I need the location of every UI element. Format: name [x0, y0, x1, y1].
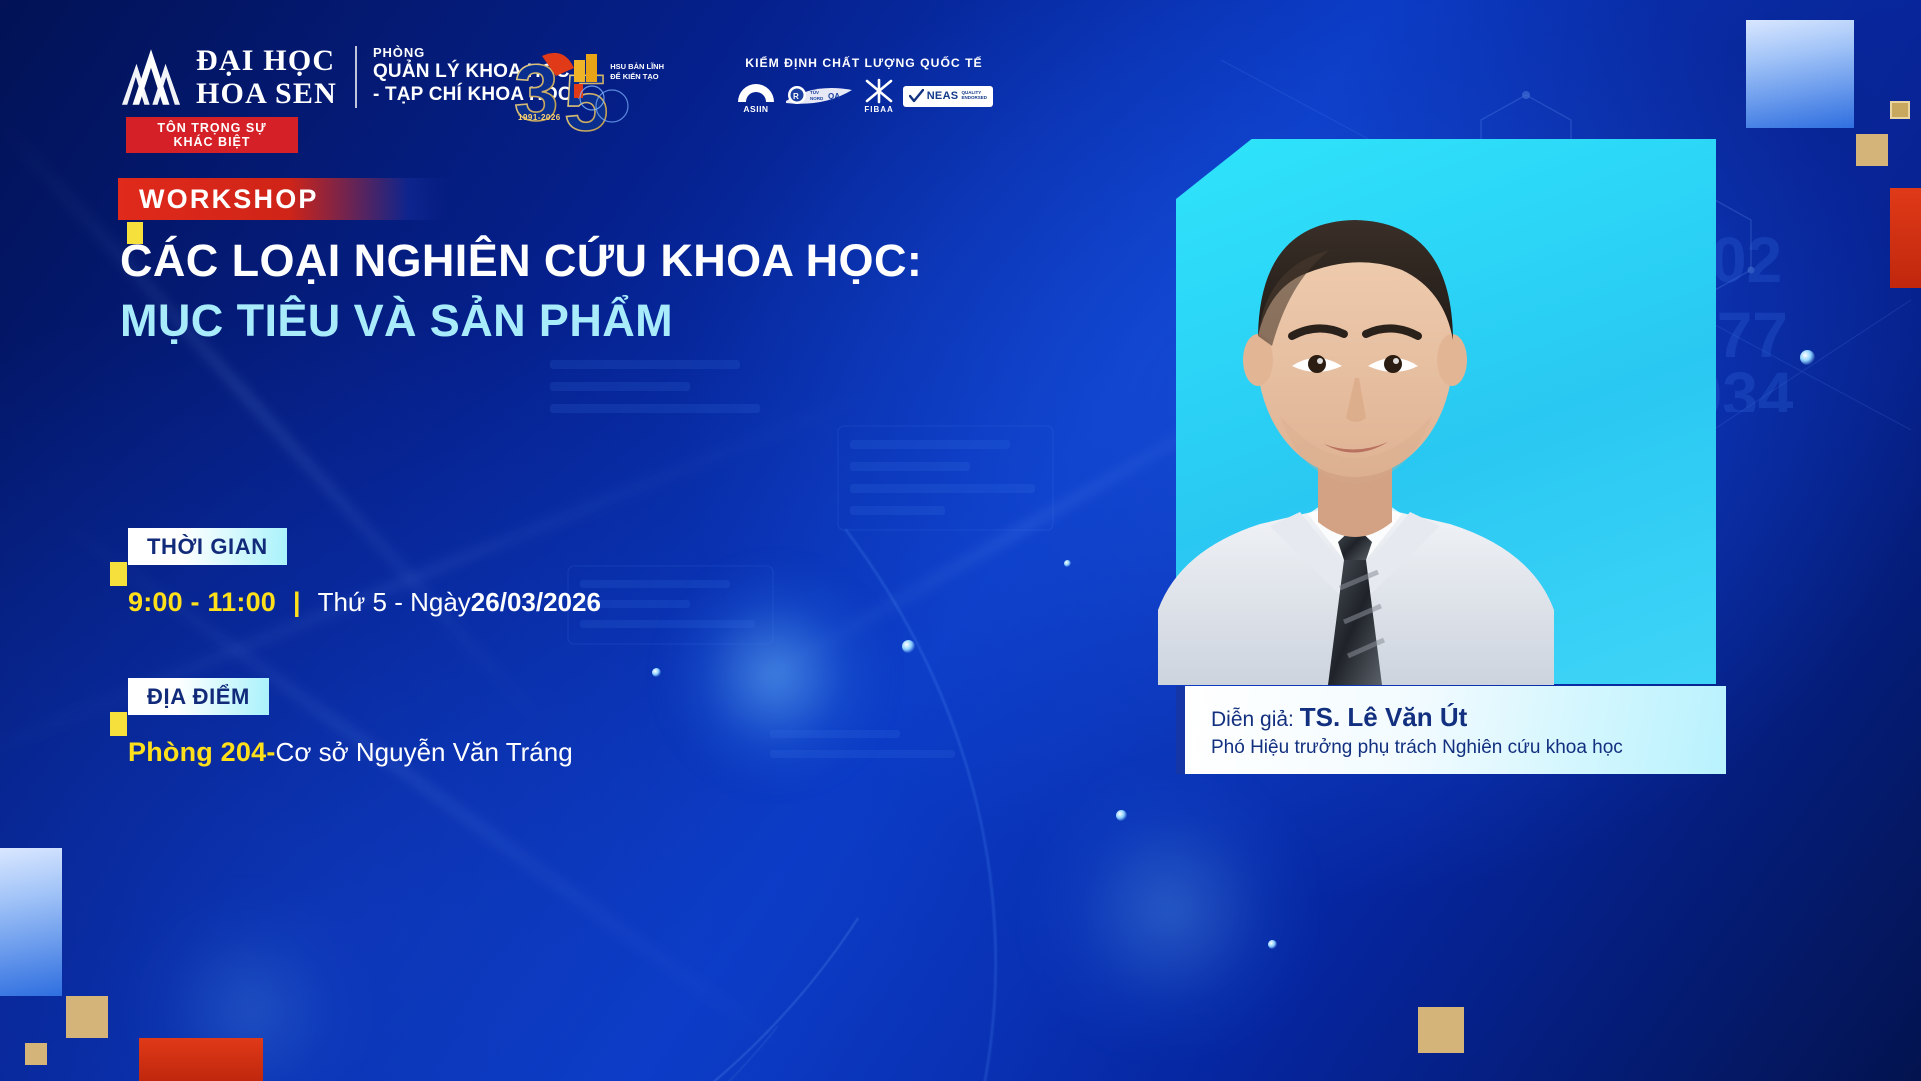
- data-blocks-graphic: [520, 330, 1240, 870]
- location-block: ĐỊA ĐIỂM Phòng 204 - Cơ sở Nguyễn Văn Tr…: [128, 678, 573, 768]
- tuv-qa-icon: R TÜV NORD QA: [784, 81, 856, 111]
- location-room: Phòng 204: [128, 737, 266, 768]
- svg-text:QA: QA: [828, 92, 840, 101]
- brand-lockup: ĐẠI HỌC HOA SEN TÔN TRỌNG SỰ KHÁC BIỆT P…: [118, 44, 572, 153]
- speaker-name: TS. Lê Văn Út: [1300, 702, 1468, 732]
- glow-orb-2: [1020, 760, 1320, 1060]
- workshop-badge: WORKSHOP: [118, 178, 448, 220]
- location-campus: Cơ sở Nguyễn Văn Tráng: [276, 737, 573, 768]
- anniversary-slogan-line1: HSU BẢN LĨNH: [610, 62, 664, 72]
- time-range: 9:00 - 11:00: [128, 587, 276, 618]
- deco-square-gold-bottom-1: [66, 996, 108, 1038]
- speaker-portrait-image: [1140, 140, 1570, 685]
- spark-dot-1: [902, 640, 915, 653]
- accreditation-logos: ASIIN R TÜV NORD QA: [735, 76, 993, 116]
- time-value-row: 9:00 - 11:00 | Thứ 5 - Ngày 26/03/2026: [128, 587, 601, 618]
- speaker-prefix: Diễn giả:: [1211, 708, 1300, 731]
- time-block: THỜI GIAN 9:00 - 11:00 | Thứ 5 - Ngày 26…: [128, 528, 601, 618]
- glow-orb-1: [660, 560, 890, 790]
- location-badge-label: ĐỊA ĐIỂM: [147, 684, 250, 710]
- deco-square-gold-bottom-2: [25, 1043, 47, 1065]
- svg-text:NORD: NORD: [810, 96, 824, 101]
- location-badge: ĐỊA ĐIỂM: [128, 678, 269, 715]
- accent-tick-location: [110, 712, 127, 736]
- svg-text:02: 02: [1711, 224, 1782, 296]
- hoa-sen-logo: ĐẠI HỌC HOA SEN TÔN TRỌNG SỰ KHÁC BIỆT: [118, 44, 337, 153]
- accreditation-logo-tuv: R TÜV NORD QA: [784, 81, 856, 111]
- speaker-name-row: Diễn giả: TS. Lê Văn Út: [1211, 702, 1726, 733]
- spark-dot-2: [652, 668, 661, 677]
- university-name-line1: ĐẠI HỌC: [196, 46, 337, 76]
- anniversary-logo: 3 5 1991-2026 HSU BẢN LĨNH ĐỂ KIẾN TẠO: [512, 46, 662, 132]
- svg-text:TÜV: TÜV: [810, 89, 819, 95]
- lotus-mountain-icon: [118, 44, 184, 110]
- time-badge-label: THỜI GIAN: [147, 534, 268, 560]
- accreditation-logo-neas: NEAS QUALITY ENDORSED: [903, 86, 993, 107]
- location-dash: -: [266, 737, 275, 768]
- fibaa-label: FIBAA: [864, 105, 893, 114]
- accreditation-logo-fibaa: FIBAA: [862, 78, 896, 114]
- speaker-portrait: [1140, 140, 1570, 685]
- anniversary-slogan-line2: ĐỂ KIẾN TẠO: [610, 72, 664, 82]
- poster-header: ĐẠI HỌC HOA SEN TÔN TRỌNG SỰ KHÁC BIỆT P…: [0, 0, 1921, 150]
- deco-square-lightblue-bottom: [0, 848, 62, 996]
- asiin-icon: [735, 79, 777, 103]
- location-value-row: Phòng 204 - Cơ sở Nguyễn Văn Tráng: [128, 737, 573, 768]
- spark-dot-4: [1268, 940, 1277, 949]
- accreditation-title: KIỂM ĐỊNH CHẤT LƯỢNG QUỐC TẾ: [735, 56, 993, 70]
- event-poster: In 02 No 277 A 3034: [0, 0, 1921, 1081]
- deco-square-red-bottom: [139, 1038, 263, 1081]
- university-tagline: TÔN TRỌNG SỰ KHÁC BIỆT: [126, 117, 298, 153]
- speaker-role: Phó Hiệu trưởng phụ trách Nghiên cứu kho…: [1211, 737, 1726, 759]
- speaker-info-card: Diễn giả: TS. Lê Văn Út Phó Hiệu trưởng …: [1176, 686, 1726, 774]
- workshop-badge-label: WORKSHOP: [139, 184, 319, 215]
- time-day-prefix: Thứ 5 - Ngày: [318, 587, 471, 618]
- university-name-line2: HOA SEN: [196, 79, 337, 109]
- time-date: 26/03/2026: [471, 587, 601, 618]
- spark-dot-3: [1116, 810, 1127, 821]
- anniversary-slogan: HSU BẢN LĨNH ĐỂ KIẾN TẠO: [610, 62, 664, 82]
- checkmark-icon: [909, 89, 924, 104]
- glow-orb-4: [120, 880, 380, 1081]
- accreditation-logo-asiin: ASIIN: [735, 79, 777, 114]
- svg-text:R: R: [793, 92, 799, 101]
- event-title-line2: MỤC TIÊU VÀ SẢN PHẨM: [120, 294, 922, 348]
- fibaa-icon: [862, 78, 896, 104]
- deco-square-gold-right: [1418, 1007, 1464, 1053]
- time-separator: |: [293, 587, 301, 618]
- event-title: CÁC LOẠI NGHIÊN CỨU KHOA HỌC: MỤC TIÊU V…: [120, 235, 922, 348]
- anniversary-years: 1991-2026: [518, 113, 561, 122]
- accreditation-block: KIỂM ĐỊNH CHẤT LƯỢNG QUỐC TẾ ASIIN R TÜV: [735, 56, 993, 116]
- neas-sub-2: ENDORSED: [961, 96, 987, 101]
- time-badge: THỜI GIAN: [128, 528, 287, 565]
- event-title-line1: CÁC LOẠI NGHIÊN CỨU KHOA HỌC:: [120, 235, 922, 287]
- spark-dot-6: [1800, 350, 1815, 365]
- logo-divider: [355, 46, 357, 108]
- accent-tick-time: [110, 562, 127, 586]
- spark-dot-7: [1064, 560, 1071, 567]
- neas-label: NEAS: [927, 90, 959, 102]
- asiin-label: ASIIN: [743, 104, 768, 114]
- deco-square-red-top: [1890, 188, 1921, 288]
